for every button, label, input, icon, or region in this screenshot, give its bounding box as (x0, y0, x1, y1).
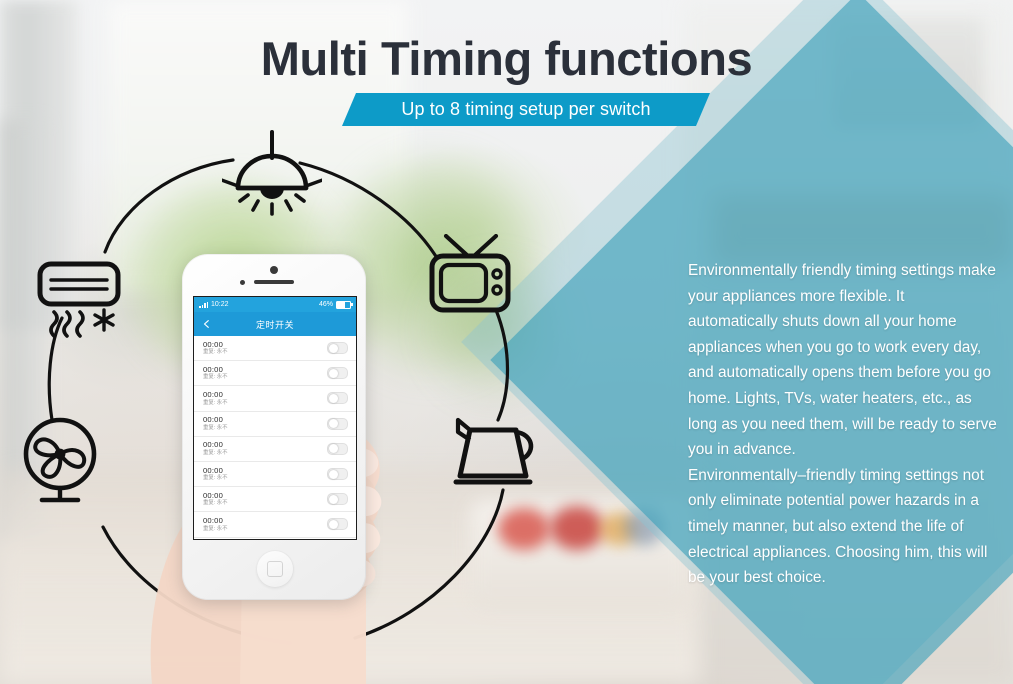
timer-time: 00:00 (203, 341, 228, 349)
timer-list: 00:00 重复: 永不 00:00 重复: 永不 00:00 重复: 永不 (194, 336, 356, 538)
timer-row[interactable]: 00:00 重复: 永不 (194, 412, 356, 437)
promo-banner: Multi Timing functions Up to 8 timing se… (0, 0, 1013, 684)
timer-time: 00:00 (203, 517, 228, 525)
timer-repeat: 重复: 永不 (203, 426, 228, 431)
description-text: Environmentally friendly timing settings… (688, 258, 998, 591)
app-title: 定时开关 (194, 318, 356, 331)
earpiece-speaker (254, 280, 294, 284)
home-button[interactable] (256, 550, 294, 588)
timer-time: 00:00 (203, 467, 228, 475)
smartphone: 10:22 46% 定时开关 00:00 重复: 永不 (182, 254, 366, 600)
electric-kettle-icon (446, 406, 542, 503)
timer-row[interactable]: 00:00 重复: 永不 (194, 361, 356, 386)
back-arrow-icon[interactable] (202, 319, 212, 329)
timer-toggle[interactable] (327, 443, 348, 455)
background-fruit (498, 508, 550, 550)
battery-icon (336, 301, 351, 309)
timer-row[interactable]: 00:00 重复: 永不 (194, 462, 356, 487)
ceiling-lamp-icon (222, 128, 322, 233)
timer-time: 00:00 (203, 391, 228, 399)
timer-repeat: 重复: 永不 (203, 501, 228, 506)
status-time: 10:22 (211, 301, 229, 308)
app-bar: 定时开关 (194, 312, 356, 336)
timer-repeat: 重复: 永不 (203, 527, 228, 532)
timer-toggle[interactable] (327, 367, 348, 379)
timer-toggle[interactable] (327, 342, 348, 354)
phone-screen: 10:22 46% 定时开关 00:00 重复: 永不 (193, 296, 357, 540)
timer-row[interactable]: 00:00 重复: 永不 (194, 512, 356, 537)
timer-toggle[interactable] (327, 493, 348, 505)
air-conditioner-icon (34, 258, 134, 355)
timer-row[interactable]: 00:00 重复: 永不 (194, 386, 356, 411)
timer-time: 00:00 (203, 416, 228, 424)
electric-fan-icon (14, 412, 106, 513)
timer-row[interactable]: 00:00 重复: 永不 (194, 487, 356, 512)
timer-toggle[interactable] (327, 418, 348, 430)
timer-toggle[interactable] (327, 518, 348, 530)
timer-repeat: 重复: 永不 (203, 375, 228, 380)
timer-time: 00:00 (203, 366, 228, 374)
subtitle-text: Up to 8 timing setup per switch (401, 99, 650, 120)
front-camera-icon (270, 266, 278, 274)
timer-repeat: 重复: 永不 (203, 401, 228, 406)
background-fruit (550, 506, 604, 550)
timer-repeat: 重复: 永不 (203, 350, 228, 355)
subtitle-banner: Up to 8 timing setup per switch (342, 93, 710, 126)
timer-toggle[interactable] (327, 392, 348, 404)
television-icon (424, 234, 516, 327)
battery-percent: 46% (319, 301, 333, 308)
timer-row[interactable]: 00:00 重复: 永不 (194, 437, 356, 462)
page-title: Multi Timing functions (0, 34, 1013, 85)
proximity-sensor-icon (240, 280, 245, 285)
timer-repeat: 重复: 永不 (203, 451, 228, 456)
timer-repeat: 重复: 永不 (203, 476, 228, 481)
timer-row[interactable]: 00:00 重复: 永不 (194, 336, 356, 361)
timer-time: 00:00 (203, 492, 228, 500)
timer-toggle[interactable] (327, 468, 348, 480)
status-bar: 10:22 46% (194, 297, 356, 312)
timer-time: 00:00 (203, 441, 228, 449)
signal-icon (199, 301, 208, 308)
